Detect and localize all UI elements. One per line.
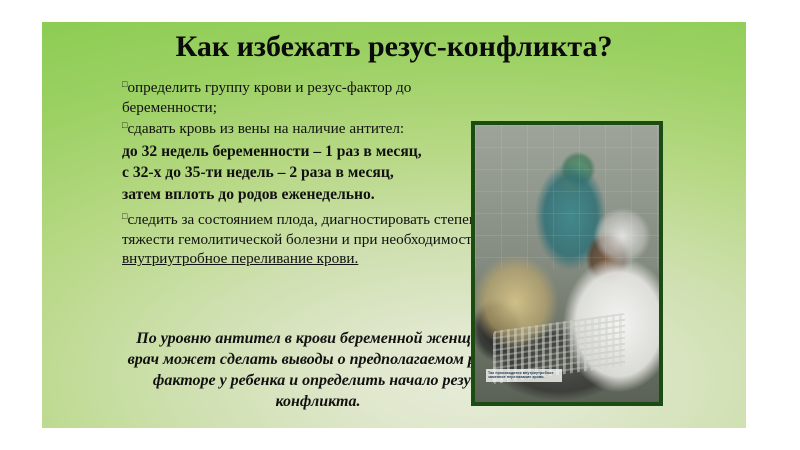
- body-text-column: □определить группу крови и резус-фактор …: [122, 78, 502, 271]
- schedule-line-3: затем вплоть до родов еженедельно.: [122, 184, 502, 206]
- bullet-item-2-text: сдавать кровь из вены на наличие антител…: [127, 120, 404, 137]
- photo-caption-label: Так производится внутриутробное заменное…: [486, 369, 562, 382]
- bullet-item-3-underlined-text: внутриутробное переливание крови.: [122, 250, 358, 267]
- schedule-line-2: с 32-х до 35-ти недель – 2 раза в месяц,: [122, 162, 502, 184]
- bullet-item-2: □сдавать кровь из вены на наличие антите…: [122, 119, 502, 139]
- medical-photo-frame: Так производится внутриутробное заменное…: [471, 121, 663, 406]
- photo-tile-wall-texture: [475, 125, 659, 269]
- page-title: Как избежать резус-конфликта?: [42, 30, 746, 64]
- schedule-line-1: до 32 недель беременности – 1 раз в меся…: [122, 141, 502, 163]
- bullet-item-1: □определить группу крови и резус-фактор …: [122, 78, 502, 117]
- bullet-item-3: □следить за состоянием плода, диагностир…: [122, 210, 502, 269]
- italic-summary-block: По уровню антител в крови беременной жен…: [122, 328, 514, 412]
- bullet-item-1-text: определить группу крови и резус-фактор д…: [122, 79, 411, 116]
- bullet-item-3-text: следить за состоянием плода, диагностиро…: [122, 211, 489, 248]
- slide-canvas: Как избежать резус-конфликта? □определит…: [42, 22, 746, 428]
- medical-photo-image: Так производится внутриутробное заменное…: [475, 125, 659, 402]
- italic-summary-text: По уровню антител в крови беременной жен…: [122, 328, 514, 412]
